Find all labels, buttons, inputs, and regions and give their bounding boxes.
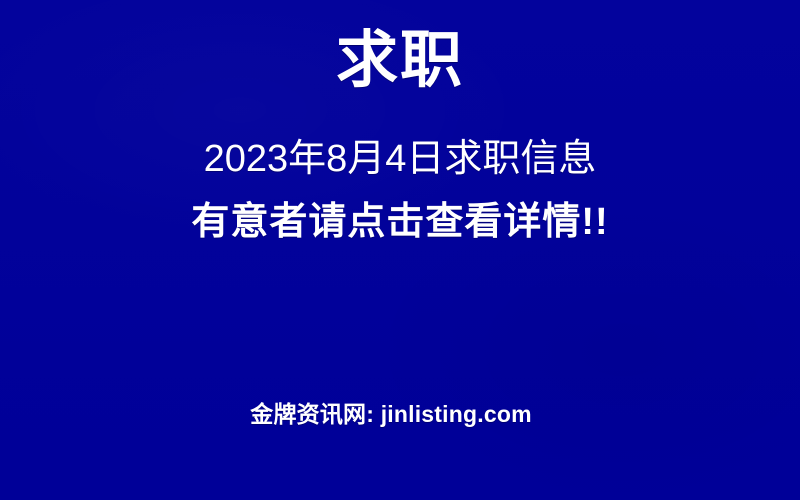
poster-body: 2023年8月4日求职信息 有意者请点击查看详情!! xyxy=(0,134,800,248)
call-to-action-line[interactable]: 有意者请点击查看详情!! xyxy=(0,196,800,248)
site-credit: 金牌资讯网: jinlisting.com xyxy=(0,398,800,430)
posting-date-line: 2023年8月4日求职信息 xyxy=(0,134,800,184)
page-title: 求职 xyxy=(0,22,800,100)
job-posting-poster: 求职 2023年8月4日求职信息 有意者请点击查看详情!! 金牌资讯网: jin… xyxy=(0,0,800,500)
